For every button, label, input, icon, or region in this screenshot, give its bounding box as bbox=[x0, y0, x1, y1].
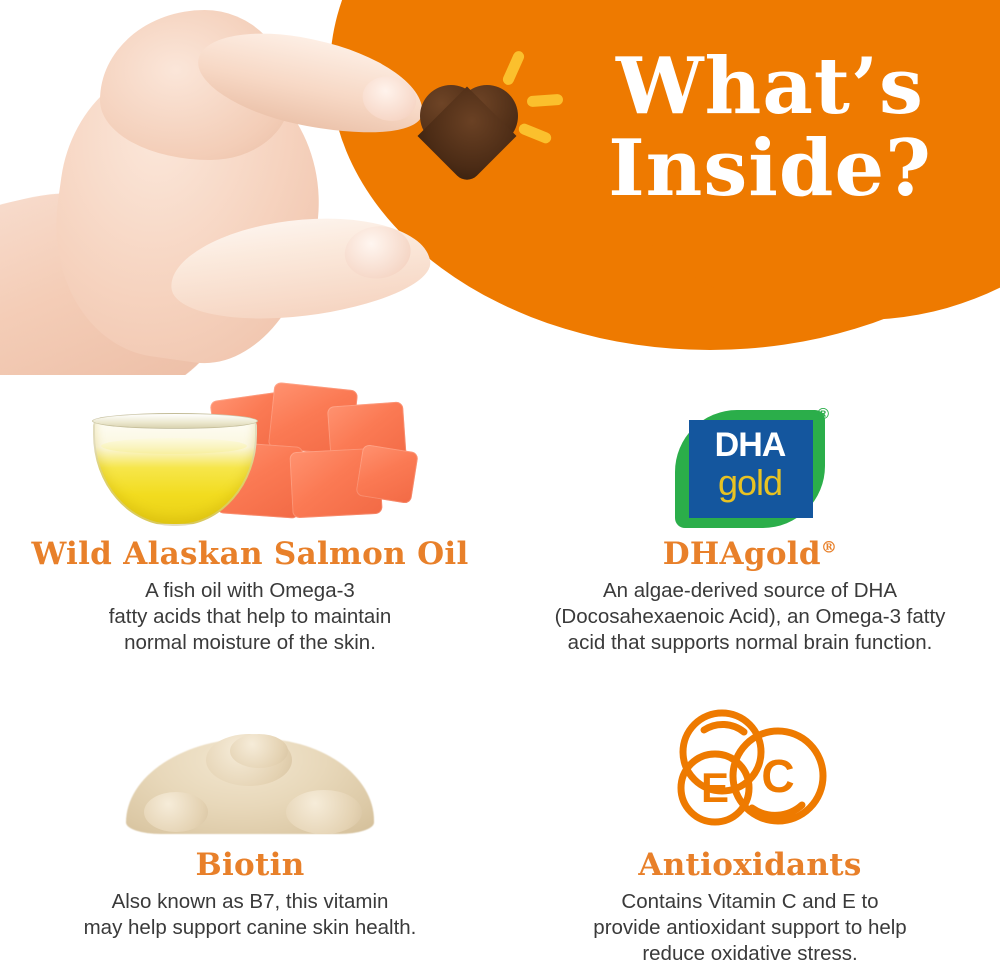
description-line: reduce oxidative stress. bbox=[540, 941, 960, 967]
ingredient-card-antioxidants: E C Antioxidants Contains Vitamin C and … bbox=[500, 699, 1000, 967]
description-line: A fish oil with Omega-3 bbox=[40, 578, 460, 604]
ingredients-row: Biotin Also known as B7, this vitamin ma… bbox=[0, 699, 1000, 967]
ingredient-heading: Biotin bbox=[14, 847, 486, 883]
ingredients-grid: Wild Alaskan Salmon Oil A fish oil with … bbox=[0, 378, 1000, 967]
ingredient-heading: DHAgold® bbox=[514, 536, 986, 572]
ingredient-card-dhagold: DHA gold ® DHAgold® An algae-derived sou… bbox=[500, 378, 1000, 657]
vitamin-circles-svg: E C bbox=[660, 704, 840, 834]
ingredient-heading: Wild Alaskan Salmon Oil bbox=[14, 536, 486, 572]
salmon-oil-bowl-icon bbox=[14, 378, 486, 528]
description-line: normal moisture of the skin. bbox=[40, 630, 460, 656]
ingredient-heading-text: Biotin bbox=[195, 847, 304, 883]
vitamin-e-letter: E bbox=[701, 764, 729, 811]
page-title: What’s Inside? bbox=[560, 46, 980, 210]
ingredient-card-biotin: Biotin Also known as B7, this vitamin ma… bbox=[0, 699, 500, 967]
description-line: acid that supports normal brain function… bbox=[540, 630, 960, 656]
powder-lump bbox=[230, 734, 288, 768]
hero-banner: What’s Inside? bbox=[0, 0, 1000, 375]
ingredient-heading-text: DHAgold bbox=[663, 536, 821, 572]
description-line: An algae-derived source of DHA bbox=[540, 578, 960, 604]
powder-lump bbox=[286, 790, 362, 834]
ingredient-description: Contains Vitamin C and E to provide anti… bbox=[540, 889, 960, 967]
powder-lump bbox=[144, 792, 208, 832]
heading-superscript: ® bbox=[821, 538, 837, 557]
description-line: fatty acids that help to maintain bbox=[40, 604, 460, 630]
heart-treat-icon bbox=[420, 85, 520, 177]
ingredients-row: Wild Alaskan Salmon Oil A fish oil with … bbox=[0, 378, 1000, 657]
registered-trademark-icon: ® bbox=[817, 406, 829, 424]
fingernail-shape bbox=[358, 72, 420, 126]
thumbnail-shape bbox=[342, 223, 414, 283]
vitamin-c-letter: C bbox=[761, 750, 794, 802]
bowl-rim bbox=[92, 413, 258, 429]
dhagold-logo-line1: DHA bbox=[675, 426, 825, 465]
ingredient-description: A fish oil with Omega-3 fatty acids that… bbox=[40, 578, 460, 657]
dhagold-logo-line2: gold bbox=[675, 462, 825, 504]
ingredient-heading-text: Wild Alaskan Salmon Oil bbox=[31, 536, 468, 572]
ingredient-heading-text: Antioxidants bbox=[638, 847, 861, 883]
description-line: provide antioxidant support to help bbox=[540, 915, 960, 941]
ingredient-description: An algae-derived source of DHA (Docosahe… bbox=[540, 578, 960, 657]
oil-surface bbox=[101, 438, 247, 454]
dhagold-logo-icon: DHA gold ® bbox=[514, 378, 986, 528]
ingredient-card-salmon-oil: Wild Alaskan Salmon Oil A fish oil with … bbox=[0, 378, 500, 657]
salmon-chunk bbox=[355, 444, 418, 504]
page-title-line1: What’s bbox=[616, 41, 924, 132]
vitamin-circles-icon: E C bbox=[514, 699, 986, 839]
description-line: Contains Vitamin C and E to bbox=[540, 889, 960, 915]
hand-holding-treat-icon bbox=[0, 0, 520, 375]
page-title-line2: Inside? bbox=[560, 128, 980, 210]
description-line: (Docosahexaenoic Acid), an Omega-3 fatty bbox=[540, 604, 960, 630]
ingredient-heading: Antioxidants bbox=[514, 847, 986, 883]
biotin-powder-icon bbox=[14, 699, 486, 839]
description-line: Also known as B7, this vitamin bbox=[40, 889, 460, 915]
description-line: may help support canine skin health. bbox=[40, 915, 460, 941]
ingredient-description: Also known as B7, this vitamin may help … bbox=[40, 889, 460, 941]
